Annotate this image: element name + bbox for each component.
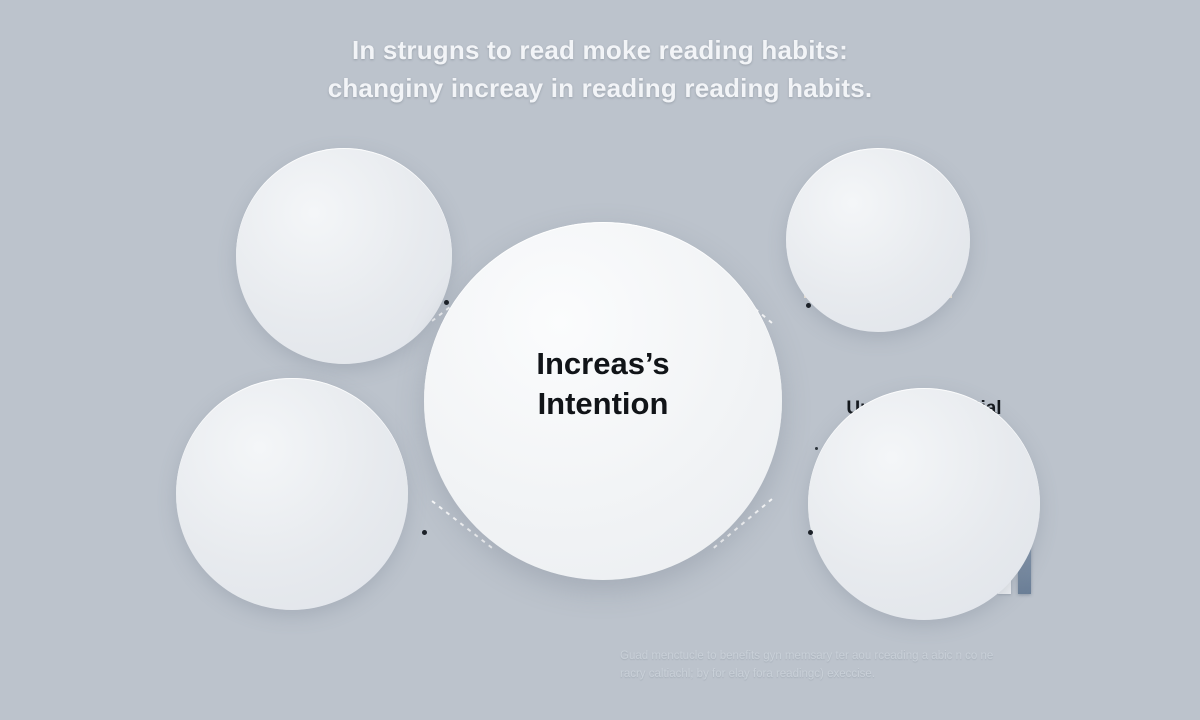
center-label-line-1: Increas’s <box>424 344 782 384</box>
title-line-2: changiny increay in reading reading habi… <box>0 70 1200 108</box>
center-label: Increas’s Intention <box>424 344 782 425</box>
footer-line-1: Guad menctucle to benefits gyn memsary t… <box>620 648 1110 666</box>
node-bottom-left[interactable] <box>176 378 408 610</box>
connector-endpoint-dot <box>806 303 811 308</box>
node-bottom-right[interactable] <box>808 388 1040 620</box>
connector-endpoint-dot <box>808 530 813 535</box>
node-top-left[interactable] <box>236 148 452 364</box>
node-top-right[interactable] <box>786 148 970 332</box>
node-center[interactable]: Increas’s Intention <box>424 222 782 580</box>
infographic-canvas: In strugns to read moke reading habits: … <box>0 0 1200 720</box>
center-label-line-2: Intention <box>424 384 782 424</box>
connector-endpoint-dot <box>422 530 427 535</box>
footer-line-2: racry caltiachl; by for elay fora readin… <box>620 666 1110 684</box>
connector-endpoint-dot <box>444 300 449 305</box>
footer-caption: Guad menctucle to benefits gyn memsary t… <box>620 648 1110 684</box>
page-title: In strugns to read moke reading habits: … <box>0 32 1200 107</box>
title-line-1: In strugns to read moke reading habits: <box>352 35 848 65</box>
